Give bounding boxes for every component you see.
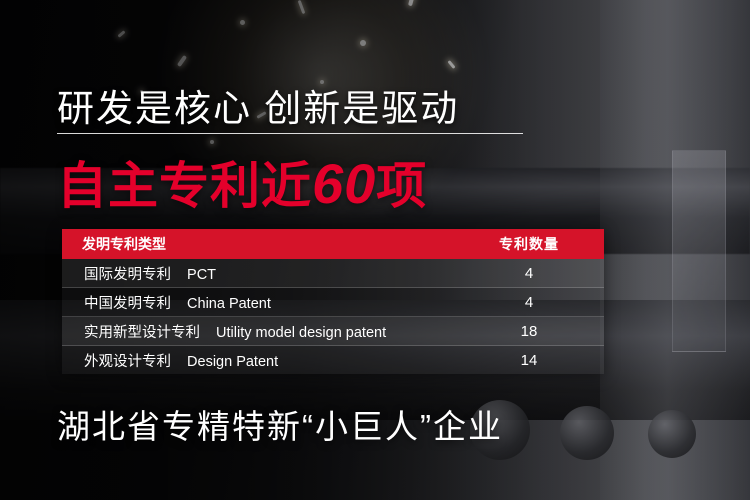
poster-canvas: 研发是核心 创新是驱动 自主专利近60项 发明专利类型 专利数量 国际发明专利 … bbox=[0, 0, 750, 500]
cell-patent-type-cn: 中国发明专利 bbox=[84, 296, 171, 312]
cell-patent-type-cn: 外观设计专利 bbox=[84, 354, 171, 370]
cell-patent-type: 中国发明专利 China Patent bbox=[62, 292, 454, 313]
table-row: 国际发明专利 PCT 4 bbox=[62, 259, 604, 288]
subhead-prefix: 自主专利近 bbox=[57, 158, 312, 214]
patent-table: 发明专利类型 专利数量 国际发明专利 PCT 4 中国发明专利 China Pa… bbox=[62, 229, 604, 374]
table-row: 实用新型设计专利 Utility model design patent 18 bbox=[62, 317, 604, 346]
headline-divider bbox=[57, 133, 523, 134]
cell-patent-type-cn: 实用新型设计专利 bbox=[84, 325, 200, 341]
subhead-suffix: 项 bbox=[376, 158, 427, 214]
cell-patent-type-cn: 国际发明专利 bbox=[84, 267, 171, 283]
cell-patent-type: 国际发明专利 PCT bbox=[62, 263, 454, 284]
cell-patent-count: 18 bbox=[454, 323, 604, 340]
footer-text: 湖北省专精特新“小巨人”企业 bbox=[57, 400, 503, 448]
cell-patent-type-en: Utility model design patent bbox=[216, 325, 386, 341]
cell-patent-count: 14 bbox=[454, 352, 604, 369]
cell-patent-count: 4 bbox=[454, 294, 604, 311]
cell-patent-type: 实用新型设计专利 Utility model design patent bbox=[62, 321, 454, 342]
table-row: 外观设计专利 Design Patent 14 bbox=[62, 346, 604, 374]
column-header-type: 发明专利类型 bbox=[62, 234, 454, 254]
cell-patent-count: 4 bbox=[454, 265, 604, 282]
cell-patent-type-en: Design Patent bbox=[187, 354, 278, 370]
cell-patent-type: 外观设计专利 Design Patent bbox=[62, 350, 454, 371]
subhead-number: 60 bbox=[312, 152, 376, 215]
poster-content: 研发是核心 创新是驱动 自主专利近60项 发明专利类型 专利数量 国际发明专利 … bbox=[0, 0, 750, 500]
table-row: 中国发明专利 China Patent 4 bbox=[62, 288, 604, 317]
headline-text: 研发是核心 创新是驱动 bbox=[57, 78, 459, 132]
cell-patent-type-en: PCT bbox=[187, 267, 216, 283]
table-header-row: 发明专利类型 专利数量 bbox=[62, 229, 604, 259]
column-header-count: 专利数量 bbox=[454, 234, 604, 254]
subhead-text: 自主专利近60项 bbox=[57, 146, 427, 218]
cell-patent-type-en: China Patent bbox=[187, 296, 271, 312]
